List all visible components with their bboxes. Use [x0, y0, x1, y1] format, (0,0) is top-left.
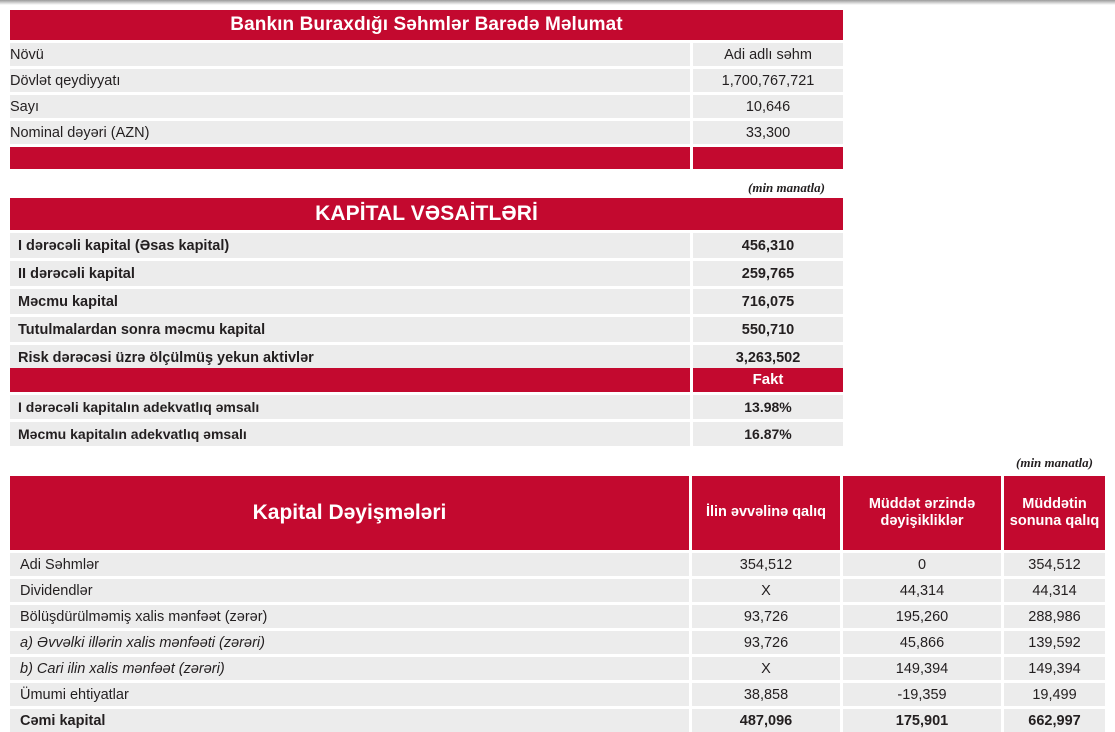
table-row: Sayı 10,646 [10, 95, 843, 118]
top-decorative-strip [0, 0, 1115, 5]
changes-row-end: 354,512 [1004, 553, 1105, 576]
units-note-changes: (min manatla) [1016, 455, 1093, 471]
changes-row-change: 44,314 [843, 579, 1001, 602]
adequacy-row-label: Məcmu kapitalın adekvatlıq əmsalı [10, 422, 690, 446]
changes-row-end: 19,499 [1004, 683, 1105, 706]
changes-row-begin: 93,726 [692, 631, 840, 654]
footer-band-left [10, 147, 690, 169]
table-row: I dərəcəli kapital (Əsas kapital) 456,31… [10, 233, 843, 258]
changes-row-change: 45,866 [843, 631, 1001, 654]
table-row: Adi Səhmlər 354,512 0 354,512 [10, 553, 1105, 576]
changes-row-label: Dividendlər [10, 579, 689, 602]
changes-row-begin: X [692, 657, 840, 680]
shares-row-label: Dövlət qeydiyyatı [10, 69, 690, 92]
capital-funds-table: KAPİTAL VƏSAİTLƏRİ I dərəcəli kapital (Ə… [10, 198, 843, 370]
changes-row-change: 0 [843, 553, 1001, 576]
table-row: I dərəcəli kapitalın adekvatlıq əmsalı 1… [10, 395, 843, 419]
changes-row-end: 149,394 [1004, 657, 1105, 680]
table-row: Növü Adi adlı səhm [10, 43, 843, 66]
table-row: Dövlət qeydiyyatı 1,700,767,721 [10, 69, 843, 92]
capital-row-label: Tutulmalardan sonra məcmu kapital [10, 317, 690, 342]
capital-changes-table: Kapital Dəyişmələri İlin əvvəlinə qalıq … [10, 476, 1105, 732]
shares-row-value: 33,300 [693, 121, 843, 144]
table-row: Məcmu kapitalın adekvatlıq əmsalı 16.87% [10, 422, 843, 446]
adequacy-header-row: Fakt [10, 368, 843, 392]
units-note-capital: (min manatla) [748, 180, 825, 196]
table-row: Cəmi kapital 487,096 175,901 662,997 [10, 709, 1105, 732]
changes-row-begin: X [692, 579, 840, 602]
table-row: Bölüşdürülməmiş xalis mənfəət (zərər) 93… [10, 605, 1105, 628]
shares-row-label: Nominal dəyəri (AZN) [10, 121, 690, 144]
table-row: Ümumi ehtiyatlar 38,858 -19,359 19,499 [10, 683, 1105, 706]
capital-row-value: 716,075 [693, 289, 843, 314]
capital-row-label: I dərəcəli kapital (Əsas kapital) [10, 233, 690, 258]
changes-column-header-begin: İlin əvvəlinə qalıq [692, 476, 840, 550]
adequacy-header-blank [10, 368, 690, 392]
changes-row-label: Bölüşdürülməmiş xalis mənfəət (zərər) [10, 605, 689, 628]
shares-table-title: Bankın Buraxdığı Səhmlər Barədə Məlumat [10, 10, 843, 40]
changes-row-change: 149,394 [843, 657, 1001, 680]
changes-row-begin: 354,512 [692, 553, 840, 576]
capital-row-value: 456,310 [693, 233, 843, 258]
changes-row-label: a) Əvvəlki illərin xalis mənfəəti (zərər… [10, 631, 689, 654]
adequacy-column-header: Fakt [693, 368, 843, 392]
footer-band-right [693, 147, 843, 169]
capital-title-row: KAPİTAL VƏSAİTLƏRİ [10, 198, 843, 230]
changes-row-begin: 93,726 [692, 605, 840, 628]
changes-row-begin: 487,096 [692, 709, 840, 732]
changes-row-change: 195,260 [843, 605, 1001, 628]
capital-row-value: 3,263,502 [693, 345, 843, 370]
shares-row-value: 10,646 [693, 95, 843, 118]
changes-row-begin: 38,858 [692, 683, 840, 706]
changes-row-end: 288,986 [1004, 605, 1105, 628]
table-row: Məcmu kapital 716,075 [10, 289, 843, 314]
changes-row-change: 175,901 [843, 709, 1001, 732]
shares-row-value: Adi adlı səhm [693, 43, 843, 66]
shares-info-table: Bankın Buraxdığı Səhmlər Barədə Məlumat … [10, 10, 843, 169]
capital-row-value: 550,710 [693, 317, 843, 342]
capital-row-value: 259,765 [693, 261, 843, 286]
changes-row-end: 662,997 [1004, 709, 1105, 732]
changes-table-title: Kapital Dəyişmələri [10, 476, 689, 550]
changes-row-label: Ümumi ehtiyatlar [10, 683, 689, 706]
capital-row-label: Məcmu kapital [10, 289, 690, 314]
shares-footer-band [10, 147, 843, 169]
table-row: Dividendlər X 44,314 44,314 [10, 579, 1105, 602]
changes-column-header-end: Müddətin sonuna qalıq [1004, 476, 1105, 550]
capital-row-label: Risk dərəcəsi üzrə ölçülmüş yekun aktivl… [10, 345, 690, 370]
shares-row-label: Növü [10, 43, 690, 66]
table-row: Risk dərəcəsi üzrə ölçülmüş yekun aktivl… [10, 345, 843, 370]
adequacy-row-value: 13.98% [693, 395, 843, 419]
table-row: a) Əvvəlki illərin xalis mənfəəti (zərər… [10, 631, 1105, 654]
changes-row-label: Adi Səhmlər [10, 553, 689, 576]
changes-row-end: 139,592 [1004, 631, 1105, 654]
table-row: Tutulmalardan sonra məcmu kapital 550,71… [10, 317, 843, 342]
changes-row-label: Cəmi kapital [10, 709, 689, 732]
shares-row-label: Sayı [10, 95, 690, 118]
changes-header-row: Kapital Dəyişmələri İlin əvvəlinə qalıq … [10, 476, 1105, 550]
shares-title-row: Bankın Buraxdığı Səhmlər Barədə Məlumat [10, 10, 843, 40]
changes-row-label: b) Cari ilin xalis mənfəət (zərəri) [10, 657, 689, 680]
changes-row-end: 44,314 [1004, 579, 1105, 602]
capital-row-label: II dərəcəli kapital [10, 261, 690, 286]
capital-table-title: KAPİTAL VƏSAİTLƏRİ [10, 198, 843, 230]
changes-row-change: -19,359 [843, 683, 1001, 706]
table-row: b) Cari ilin xalis mənfəət (zərəri) X 14… [10, 657, 1105, 680]
adequacy-ratio-table: Fakt I dərəcəli kapitalın adekvatlıq əms… [10, 368, 843, 446]
table-row: Nominal dəyəri (AZN) 33,300 [10, 121, 843, 144]
adequacy-row-value: 16.87% [693, 422, 843, 446]
changes-column-header-change: Müddət ərzində dəyişikliklər [843, 476, 1001, 550]
table-row: II dərəcəli kapital 259,765 [10, 261, 843, 286]
shares-row-value: 1,700,767,721 [693, 69, 843, 92]
adequacy-row-label: I dərəcəli kapitalın adekvatlıq əmsalı [10, 395, 690, 419]
